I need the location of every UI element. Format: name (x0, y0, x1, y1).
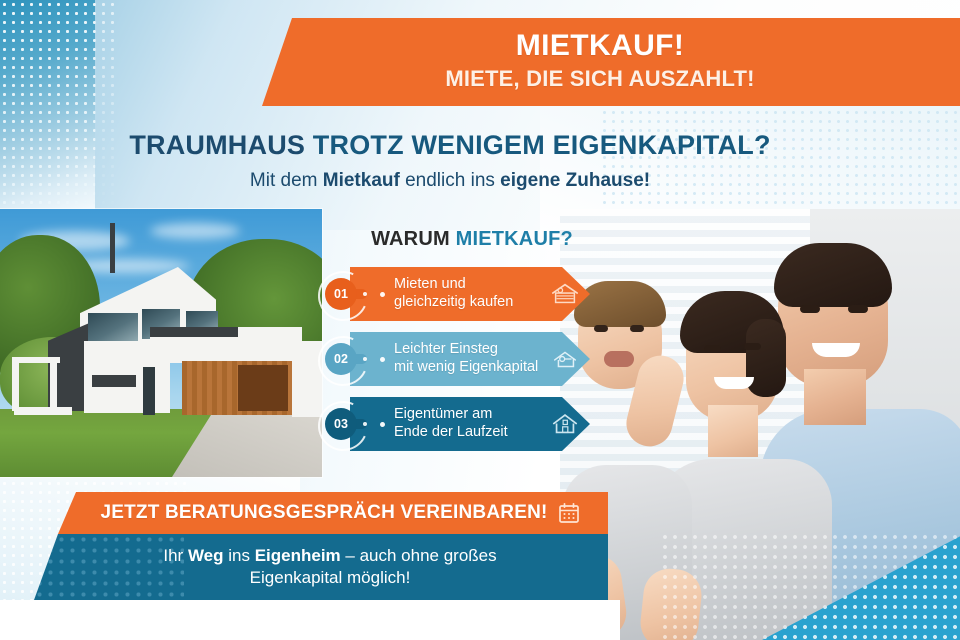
benefit-text-01: Mieten und gleichzeitig kaufen (394, 276, 513, 311)
badge-number-03: 03 (325, 408, 357, 440)
benefit-arrow-01: Mieten und gleichzeitig kaufen (350, 267, 590, 321)
footer-text: Ihr Weg ins Eigenheim – auch ohne großes… (163, 545, 496, 590)
headline-part1: TRAUMHAUS (129, 130, 305, 160)
banner-subtitle: MIETE, DIE SICH AUSZAHLT! (445, 65, 754, 93)
badge-dot (363, 422, 367, 426)
photo-father-hair (774, 243, 892, 307)
photo-mother-eye (704, 345, 721, 352)
footer-line2: Eigenkapital möglich! (250, 568, 411, 587)
bottom-white-strip (0, 600, 620, 640)
photo-entrance (143, 367, 155, 415)
house-photo (0, 209, 322, 477)
page-subline: Mit dem Mietkauf endlich ins eigene Zuha… (0, 170, 900, 192)
benefit-line2: mit wenig Eigenkapital (394, 359, 538, 377)
family-dot-overlay (660, 532, 960, 640)
photo-cloud (150, 223, 240, 239)
bullet-icon (380, 357, 385, 362)
benefit-arrow-02: Leichter Einsteg mit wenig Eigenkapital (350, 332, 590, 386)
photo-garage-opening (238, 365, 288, 411)
photo-mother-smile (714, 377, 754, 389)
cta-banner[interactable]: JETZT BERATUNGSGESPRÄCH VEREINBAREN! (58, 492, 608, 534)
benefit-item-01[interactable]: Mieten und gleichzeitig kaufen 01 (350, 267, 640, 321)
benefit-line2: gleichzeitig kaufen (394, 294, 513, 312)
badge-dot (363, 292, 367, 296)
footer-pre: Ihr (163, 546, 188, 565)
right-dot-pattern (600, 108, 960, 220)
footer-mid1: ins (224, 546, 255, 565)
benefit-item-03[interactable]: Eigentümer am Ende der Laufzeit 03 (350, 397, 640, 451)
footer-mid2: – auch ohne großes (341, 546, 497, 565)
photo-father-smile (812, 343, 860, 357)
photo-mother-neck (708, 405, 758, 457)
headline-part2: TROTZ WENIGEM EIGENKAPITAL? (305, 130, 771, 160)
benefit-badge-01: 01 (318, 271, 364, 317)
badge-number-02: 02 (325, 343, 357, 375)
page-headline: TRAUMHAUS TROTZ WENIGEM EIGENKAPITAL? (0, 130, 900, 161)
badge-dot (363, 357, 367, 361)
photo-father-neck (804, 369, 866, 425)
section-title-plain: WARUM (371, 228, 456, 250)
bullet-icon (380, 292, 385, 297)
house-icon (550, 411, 580, 437)
photo-roof-edge (150, 327, 238, 337)
photo-mother-hair-side (746, 319, 786, 397)
benefit-arrow-03: Eigentümer am Ende der Laufzeit (350, 397, 590, 451)
calendar-icon (558, 502, 580, 524)
photo-window-slot (92, 375, 136, 387)
subline-pre: Mit dem (250, 170, 323, 191)
section-title: WARUM MIETKAUF? (322, 228, 622, 251)
benefit-line1: Eigentümer am (394, 406, 508, 424)
benefit-text-02: Leichter Einsteg mit wenig Eigenkapital (394, 341, 538, 376)
subline-bold-mietkauf: Mietkauf (323, 170, 400, 191)
benefit-line1: Leichter Einsteg (394, 341, 538, 359)
cta-label: JETZT BERATUNGSGESPRÄCH VEREINBAREN! (100, 502, 547, 524)
photo-chimney (110, 223, 115, 273)
badge-number-01: 01 (325, 278, 357, 310)
section-title-accent: MIETKAUF? (456, 228, 573, 250)
bullet-icon (380, 422, 385, 427)
footer-banner: Ihr Weg ins Eigenheim – auch ohne großes… (34, 534, 608, 600)
photo-mother-eye (744, 343, 761, 350)
benefit-line1: Mieten und (394, 276, 513, 294)
banner-title: MIETKAUF! (516, 31, 685, 62)
benefit-list: Mieten und gleichzeitig kaufen 01 (350, 267, 640, 462)
subline-bold-zuhause: eigene Zuhause! (500, 170, 650, 191)
photo-pergola-post (50, 359, 57, 411)
footer-bold-weg: Weg (188, 546, 224, 565)
photo-pergola-post (12, 357, 19, 411)
photo-father-eye (800, 305, 820, 313)
top-headline-banner: MIETKAUF! MIETE, DIE SICH AUSZAHLT! (262, 18, 960, 106)
benefit-line2: Ende der Laufzeit (394, 424, 508, 442)
house-key-icon (550, 346, 580, 372)
promo-banner: MIETKAUF! MIETE, DIE SICH AUSZAHLT! TRAU… (0, 0, 960, 640)
house-money-icon (550, 281, 580, 307)
benefit-badge-03: 03 (318, 401, 364, 447)
photo-father-eye (848, 305, 868, 313)
footer-dot-pattern (34, 534, 184, 600)
benefit-text-03: Eigentümer am Ende der Laufzeit (394, 406, 508, 441)
subline-mid: endlich ins (400, 170, 500, 191)
photo-terrace (14, 407, 72, 415)
footer-bold-eigenheim: Eigenheim (255, 546, 341, 565)
benefit-item-02[interactable]: Leichter Einsteg mit wenig Eigenkapital … (350, 332, 640, 386)
benefit-badge-02: 02 (318, 336, 364, 382)
